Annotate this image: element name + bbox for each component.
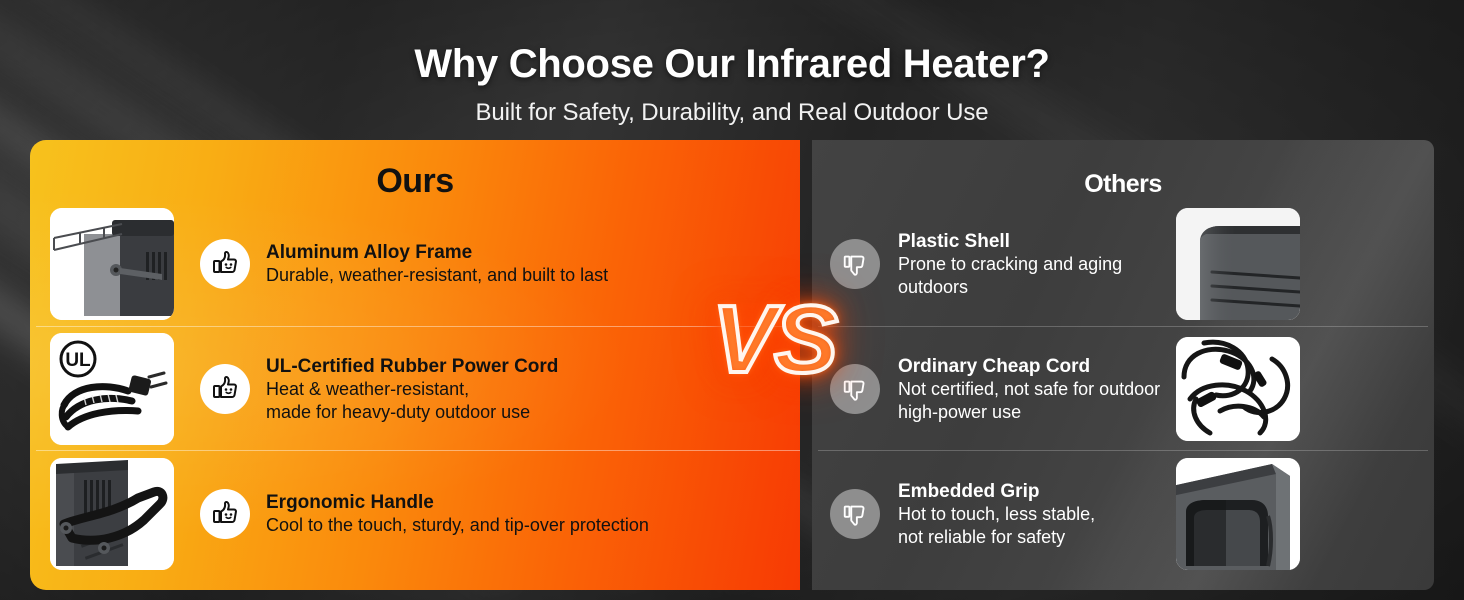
others-row-2-desc-line-2: high-power use (898, 401, 1162, 423)
thumbs-up-icon (200, 489, 250, 539)
tangled-cheap-cord-photo (1176, 337, 1300, 441)
others-row-2: Ordinary Cheap Cord Not certified, not s… (830, 333, 1300, 445)
ours-row-3: Ergonomic Handle Cool to the touch, stur… (50, 458, 750, 570)
ours-row-1-title: Aluminum Alloy Frame (266, 241, 608, 264)
ergonomic-handle-photo (50, 458, 174, 570)
thumbs-down-icon (830, 239, 880, 289)
ours-row-1-desc: Durable, weather-resistant, and built to… (266, 264, 608, 286)
header: Why Choose Our Infrared Heater? Built fo… (0, 0, 1464, 127)
others-row-3-text: Embedded Grip Hot to touch, less stable,… (898, 480, 1162, 548)
ours-column-heading: Ours (30, 162, 800, 201)
ul-certified-power-cord-photo: UL (50, 333, 174, 445)
ours-row-2-text: UL-Certified Rubber Power Cord Heat & we… (266, 355, 558, 423)
ours-row-3-title: Ergonomic Handle (266, 491, 649, 514)
row-divider (36, 326, 800, 327)
others-row-1-text: Plastic Shell Prone to cracking and agin… (898, 230, 1162, 298)
others-row-2-desc-line-1: Not certified, not safe for outdoor (898, 378, 1162, 400)
embedded-grip-photo (1176, 458, 1300, 570)
others-row-1-title: Plastic Shell (898, 230, 1162, 253)
ours-row-3-desc: Cool to the touch, sturdy, and tip-over … (266, 514, 649, 536)
thumbs-up-icon (200, 239, 250, 289)
row-divider (818, 326, 1428, 327)
vs-badge: VS (712, 292, 836, 388)
others-row-3-title: Embedded Grip (898, 480, 1162, 503)
row-divider (36, 450, 800, 451)
others-row-2-title: Ordinary Cheap Cord (898, 355, 1162, 378)
thumbs-up-icon (200, 364, 250, 414)
ours-row-2-desc-line-1: Heat & weather-resistant, (266, 378, 558, 400)
page-subtitle: Built for Safety, Durability, and Real O… (0, 99, 1464, 127)
ours-row-2: UL (50, 333, 750, 445)
others-row-2-text: Ordinary Cheap Cord Not certified, not s… (898, 355, 1162, 423)
others-row-1: Plastic Shell Prone to cracking and agin… (830, 208, 1300, 320)
others-row-3-desc-line-1: Hot to touch, less stable, (898, 503, 1162, 525)
thumbs-down-icon (830, 364, 880, 414)
svg-text:UL: UL (65, 350, 91, 371)
others-row-3-desc-line-2: not reliable for safety (898, 526, 1162, 548)
ours-row-1: Aluminum Alloy Frame Durable, weather-re… (50, 208, 750, 320)
ours-row-1-text: Aluminum Alloy Frame Durable, weather-re… (266, 241, 608, 286)
others-row-1-desc: Prone to cracking and aging outdoors (898, 253, 1162, 298)
ours-row-2-title: UL-Certified Rubber Power Cord (266, 355, 558, 378)
heater-metal-frame-photo (50, 208, 174, 320)
ours-row-3-text: Ergonomic Handle Cool to the touch, stur… (266, 491, 649, 536)
plastic-shell-photo (1176, 208, 1300, 320)
others-row-3: Embedded Grip Hot to touch, less stable,… (830, 458, 1300, 570)
row-divider (818, 450, 1428, 451)
page-title: Why Choose Our Infrared Heater? (0, 42, 1464, 87)
others-column-heading: Others (812, 170, 1434, 199)
thumbs-down-icon (830, 489, 880, 539)
ours-row-2-desc-line-2: made for heavy-duty outdoor use (266, 401, 558, 423)
